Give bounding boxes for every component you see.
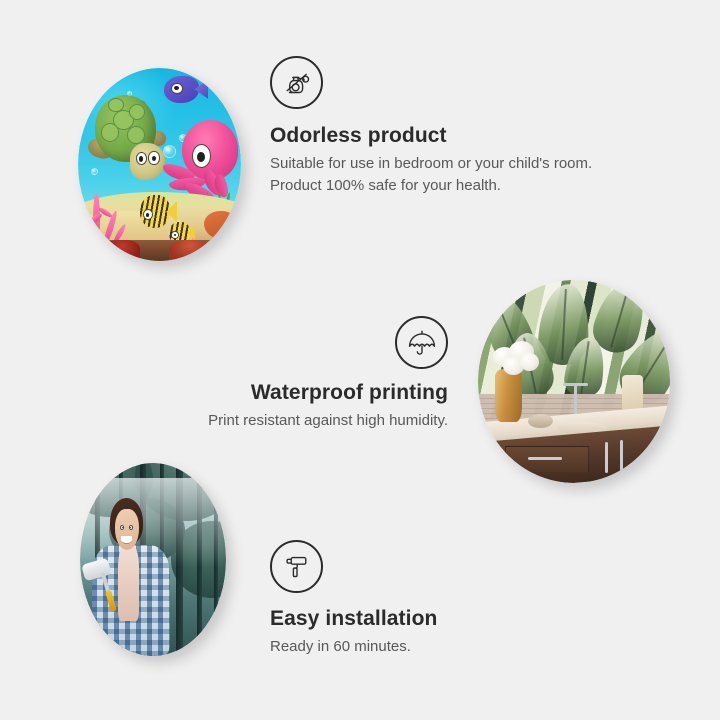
paint-roller-icon xyxy=(270,540,323,593)
feature-showcase-canvas: Odorless product Suitable for use in bed… xyxy=(0,0,720,720)
feature-description: Ready in 60 minutes. xyxy=(270,636,590,657)
bathroom-tropical-wallpaper-photo xyxy=(478,280,670,483)
no-odor-perfume-bottle-icon xyxy=(270,56,323,109)
woman-with-paint-roller-forest-photo xyxy=(80,463,226,656)
feature-title: Odorless product xyxy=(270,123,610,149)
vanity-drawer xyxy=(505,446,589,472)
face xyxy=(115,509,139,550)
underwater-foreground-band xyxy=(78,240,241,261)
icon-wrap-waterproof xyxy=(140,316,448,369)
feature-odorless: Odorless product Suitable for use in bed… xyxy=(270,56,610,196)
vase xyxy=(495,369,522,422)
sea-turtle-icon xyxy=(88,95,176,188)
feature-waterproof: Waterproof printing Print resistant agai… xyxy=(140,316,448,432)
icon-wrap-install xyxy=(270,540,590,593)
feature-easy-installation: Easy installation Ready in 60 minutes. xyxy=(270,540,590,658)
feature-title: Waterproof printing xyxy=(140,380,448,406)
feature-description: Print resistant against high humidity. xyxy=(140,410,448,431)
cabinet-handle xyxy=(605,442,608,472)
feature-title: Easy installation xyxy=(270,606,590,632)
smile xyxy=(121,536,132,544)
inner-top xyxy=(118,545,140,621)
umbrella-icon xyxy=(395,316,448,369)
soap-dish xyxy=(528,414,553,428)
cabinet-handle xyxy=(620,440,623,470)
icon-wrap-odorless xyxy=(270,56,610,109)
feature-description: Suitable for use in bedroom or your chil… xyxy=(270,153,610,196)
woman-figure xyxy=(89,498,180,656)
drawer-handle xyxy=(528,457,563,460)
underwater-cartoon-scene-photo xyxy=(78,68,241,261)
